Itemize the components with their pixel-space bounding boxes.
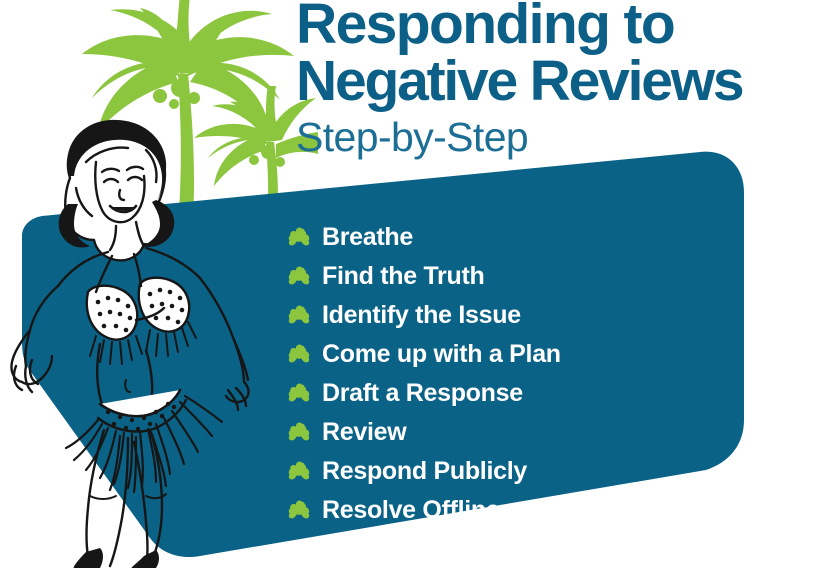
step-label: Review bbox=[322, 419, 406, 446]
list-item: Come up with a Plan bbox=[286, 335, 561, 374]
step-label: Find the Truth bbox=[322, 263, 484, 290]
step-label: Resolve Offline bbox=[322, 497, 500, 524]
step-label: Come up with a Plan bbox=[322, 341, 561, 368]
list-item: Draft a Response bbox=[286, 374, 561, 413]
hibiscus-flower-icon bbox=[286, 459, 312, 485]
page-title: Responding to Negative Reviews Step-by-S… bbox=[296, 0, 820, 162]
hula-dancer-illustration bbox=[0, 104, 250, 568]
hibiscus-flower-icon bbox=[286, 225, 312, 251]
hibiscus-flower-icon bbox=[286, 303, 312, 329]
list-item: Find the Truth bbox=[286, 257, 561, 296]
title-line-1: Responding to bbox=[296, 0, 820, 53]
page-subtitle: Step-by-Step bbox=[296, 112, 820, 162]
hibiscus-flower-icon bbox=[286, 498, 312, 524]
hibiscus-flower-icon bbox=[286, 420, 312, 446]
step-label: Breathe bbox=[322, 224, 413, 251]
title-line-2: Negative Reviews bbox=[296, 53, 820, 110]
poster-canvas: Responding to Negative Reviews Step-by-S… bbox=[0, 0, 830, 568]
list-item: Breathe bbox=[286, 218, 561, 257]
list-item: Resolve Offline bbox=[286, 491, 561, 530]
step-label: Respond Publicly bbox=[322, 458, 527, 485]
step-label: Draft a Response bbox=[322, 380, 523, 407]
list-item: Respond Publicly bbox=[286, 452, 561, 491]
hibiscus-flower-icon bbox=[286, 381, 312, 407]
hibiscus-flower-icon bbox=[286, 342, 312, 368]
list-item: Identify the Issue bbox=[286, 296, 561, 335]
step-label: Identify the Issue bbox=[322, 302, 521, 329]
list-item: Review bbox=[286, 413, 561, 452]
steps-list: Breathe Find the Truth bbox=[286, 218, 561, 530]
hibiscus-flower-icon bbox=[286, 264, 312, 290]
